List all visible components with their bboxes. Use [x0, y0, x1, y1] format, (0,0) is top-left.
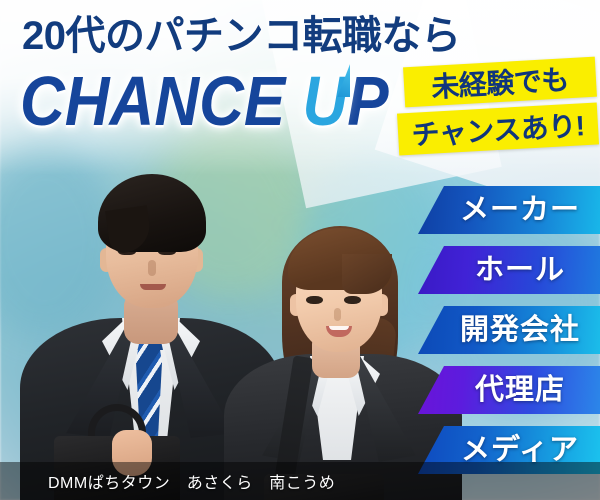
badge-chance-available-label: チャンスあり! [411, 104, 586, 154]
chance-up-logo: CHANCE UP [20, 68, 389, 137]
headline-text: 20代のパチンコ転職なら [22, 16, 461, 56]
credit-text: DMMぱちタウン あさくら 南こうめ [0, 469, 335, 493]
logo-part-two: P [347, 64, 388, 141]
man-nose [148, 260, 156, 276]
category-button-developer[interactable]: 開発会社 [418, 306, 600, 354]
photo-person-woman [238, 222, 438, 500]
woman-eye-right [344, 296, 361, 304]
category-label-developer: 開発会社 [418, 316, 600, 345]
category-button-maker[interactable]: メーカー [418, 186, 600, 234]
credit-bar: DMMぱちタウン あさくら 南こうめ [0, 462, 600, 500]
category-label-media: メディア [418, 436, 600, 465]
logo-accent-letter-u: U [302, 68, 347, 137]
advertisement-banner[interactable]: 20代のパチンコ転職なら CHANCE UP 未経験でも チャンスあり! メーカ… [0, 0, 600, 500]
man-hair [98, 174, 206, 252]
logo-part-one: CHANCE [20, 64, 302, 141]
category-label-agency: 代理店 [418, 376, 600, 405]
man-mouth [140, 284, 166, 290]
category-button-hall[interactable]: ホール [418, 246, 600, 294]
category-label-maker: メーカー [418, 196, 600, 225]
woman-nose [334, 308, 341, 321]
category-label-hall: ホール [418, 256, 600, 285]
woman-eye-left [306, 296, 323, 304]
category-button-agency[interactable]: 代理店 [418, 366, 600, 414]
badge-no-experience-label: 未経験でも [430, 58, 570, 106]
